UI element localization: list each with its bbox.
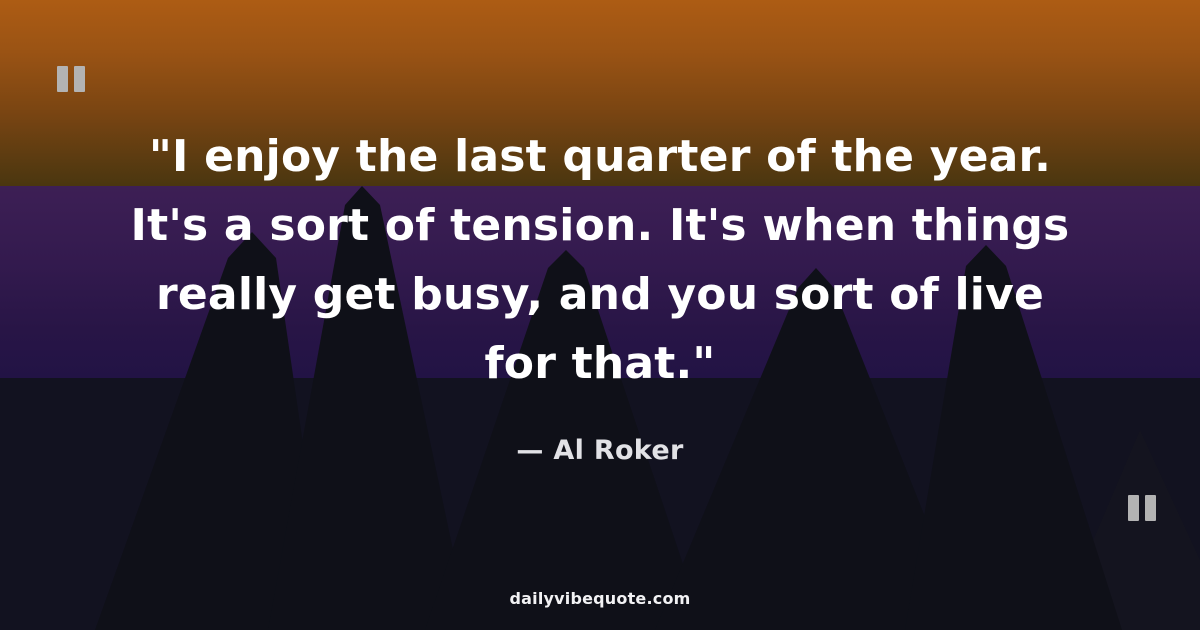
card-content: "I enjoy the last quarter of the year. I…	[0, 0, 1200, 630]
quote-text: "I enjoy the last quarter of the year. I…	[60, 122, 1140, 398]
quote-card: "I enjoy the last quarter of the year. I…	[0, 0, 1200, 630]
quote-attribution: — Al Roker	[0, 435, 1200, 466]
site-footer: dailyvibequote.com	[0, 589, 1200, 608]
